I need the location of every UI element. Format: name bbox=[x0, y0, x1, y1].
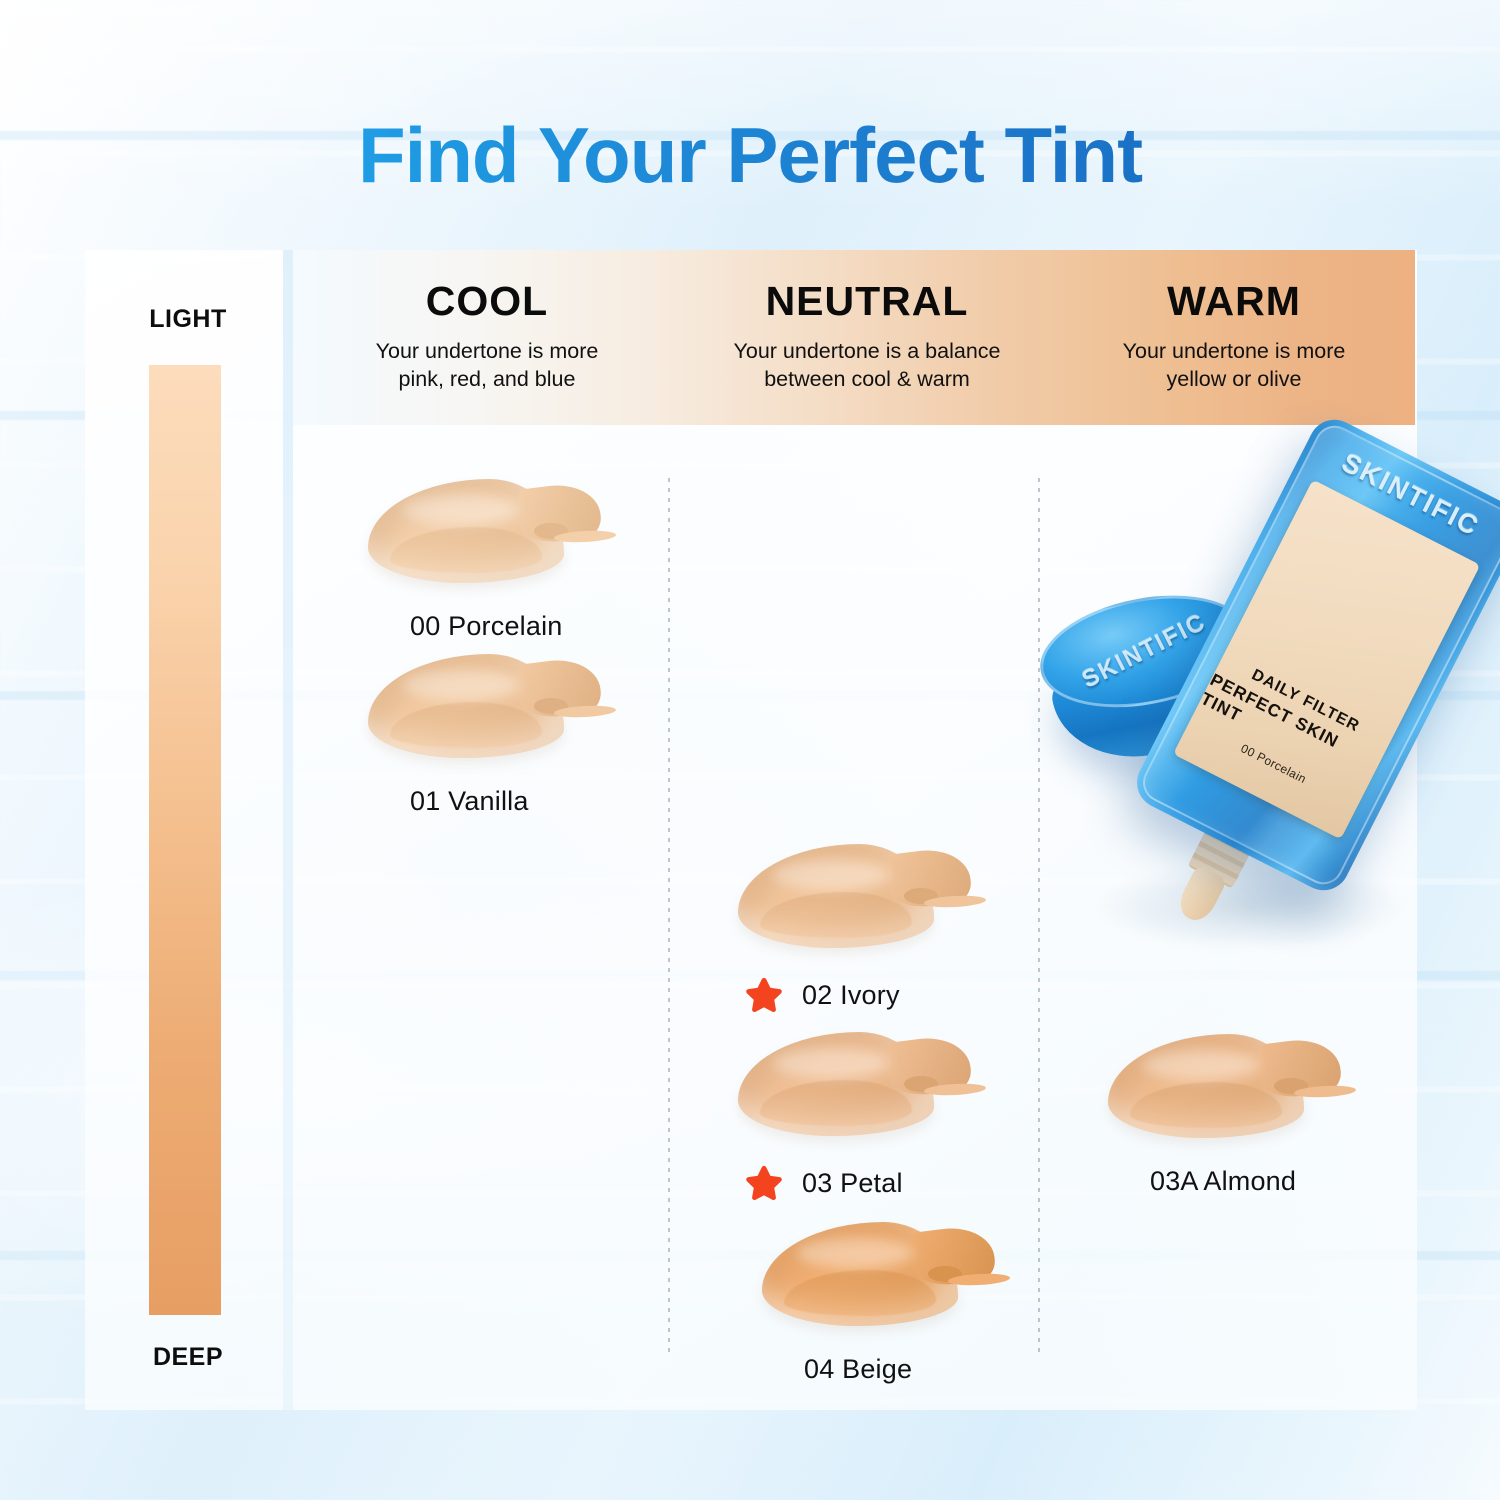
shade-entry-03a-almond[interactable]: 03A Almond bbox=[1108, 1030, 1338, 1150]
shade-entry-02-ivory[interactable]: 02 Ivory bbox=[738, 840, 968, 960]
swatch-gloss bbox=[402, 495, 520, 525]
recommended-star-icon bbox=[742, 1162, 786, 1206]
shade-entry-01-vanilla[interactable]: 01 Vanilla bbox=[368, 650, 598, 770]
undertone-desc-neutral: Your undertone is a balancebetween cool … bbox=[734, 338, 1001, 393]
shade-swatch bbox=[1108, 1030, 1338, 1150]
shade-entry-03-petal[interactable]: 03 Petal bbox=[738, 1028, 968, 1148]
column-divider-cool-neutral bbox=[668, 478, 670, 1358]
page-title: Find Your Perfect Tint bbox=[0, 110, 1500, 201]
scale-light-label: LIGHT bbox=[93, 305, 283, 334]
shade-label: 00 Porcelain bbox=[410, 611, 563, 642]
shade-entry-00-porcelain[interactable]: 00 Porcelain bbox=[368, 475, 598, 595]
swatch-gloss bbox=[1142, 1050, 1260, 1080]
shade-entry-04-beige[interactable]: 04 Beige bbox=[762, 1218, 992, 1338]
undertone-column-warm: WARM Your undertone is moreyellow or oli… bbox=[1053, 250, 1415, 425]
shade-depth-scale: LIGHT DEEP bbox=[93, 250, 283, 1410]
scale-gradient-bar bbox=[149, 365, 221, 1315]
swatch-gloss bbox=[796, 1238, 914, 1268]
recommended-star-icon bbox=[742, 974, 786, 1018]
swatch-gloss bbox=[772, 1048, 890, 1078]
panel-separator bbox=[283, 250, 293, 1410]
undertone-desc-warm: Your undertone is moreyellow or olive bbox=[1123, 338, 1346, 393]
undertone-title-warm: WARM bbox=[1167, 281, 1301, 322]
shade-swatch bbox=[368, 650, 598, 770]
shade-swatch bbox=[762, 1218, 992, 1338]
shade-swatch bbox=[738, 840, 968, 960]
swatch-gloss bbox=[402, 670, 520, 700]
product-drop-shadow bbox=[1085, 860, 1415, 952]
shade-label: 03A Almond bbox=[1150, 1166, 1296, 1197]
shade-label: 01 Vanilla bbox=[410, 786, 529, 817]
shade-label: 02 Ivory bbox=[802, 980, 900, 1011]
undertone-column-neutral: NEUTRAL Your undertone is a balancebetwe… bbox=[681, 250, 1053, 425]
scale-deep-label: DEEP bbox=[93, 1343, 283, 1372]
shade-swatch bbox=[368, 475, 598, 595]
undertone-header-band: COOL Your undertone is morepink, red, an… bbox=[293, 250, 1415, 425]
shade-label: 04 Beige bbox=[804, 1354, 912, 1385]
undertone-column-cool: COOL Your undertone is morepink, red, an… bbox=[293, 250, 681, 425]
undertone-desc-cool: Your undertone is morepink, red, and blu… bbox=[376, 338, 599, 393]
swatch-gloss bbox=[772, 860, 890, 890]
shade-label: 03 Petal bbox=[802, 1168, 903, 1199]
product-image: SKINTIFIC SKINTIFIC DAILY FILTER PERFECT… bbox=[1025, 430, 1500, 990]
undertone-title-cool: COOL bbox=[426, 281, 548, 322]
undertone-title-neutral: NEUTRAL bbox=[766, 281, 969, 322]
shade-swatch bbox=[738, 1028, 968, 1148]
